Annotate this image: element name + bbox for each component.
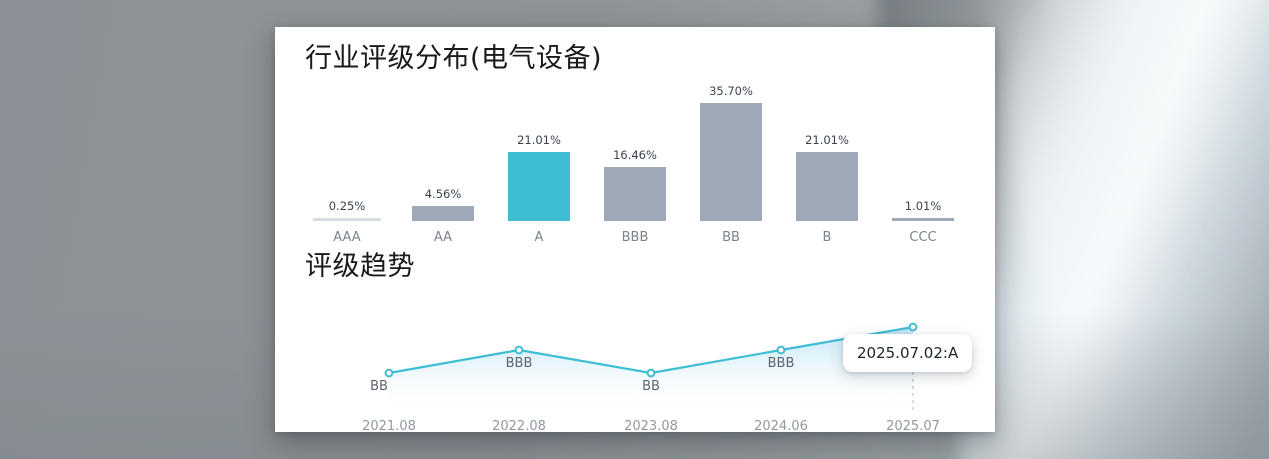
trend-x-label-2024.06: 2024.06 [754, 419, 808, 434]
bar-category-label-a: A [491, 230, 587, 245]
trend-x-label-2025.07: 2025.07 [886, 419, 940, 434]
trend-point-label-2024.06: BBB [768, 356, 795, 371]
bar-value-label-bb: 35.70% [683, 84, 779, 98]
bar-column-aaa[interactable]: 0.25%AAA [299, 97, 395, 247]
bar-category-label-aaa: AAA [299, 230, 395, 245]
trend-point-marker-2023.08[interactable] [648, 370, 655, 377]
trend-tooltip[interactable]: 2025.07.02:A [843, 334, 972, 372]
bar-value-label-b: 21.01% [779, 133, 875, 147]
bar-category-label-aa: AA [395, 230, 491, 245]
bar-column-aa[interactable]: 4.56%AA [395, 97, 491, 247]
rating-distribution-bar-chart: 0.25%AAA4.56%AA21.01%A16.46%BBB35.70%BB2… [299, 97, 971, 247]
screenshot-stage: 行业评级分布(电气设备) 0.25%AAA4.56%AA21.01%A16.46… [0, 0, 1269, 459]
bar-rect-aaa[interactable] [313, 218, 381, 221]
bar-rect-aa[interactable] [412, 206, 474, 221]
bar-column-a[interactable]: 21.01%A [491, 97, 587, 247]
bar-category-label-ccc: CCC [875, 230, 971, 245]
rating-trend-line-chart: BBBBBBBBBB 2021.082022.082023.082024.062… [299, 289, 971, 432]
bar-category-label-b: B [779, 230, 875, 245]
bar-rect-bbb[interactable] [604, 167, 666, 221]
bar-rect-b[interactable] [796, 152, 858, 221]
trend-point-label-2021.08: BB [370, 379, 388, 394]
trend-point-label-2022.08: BBB [506, 356, 533, 371]
bar-value-label-aaa: 0.25% [299, 199, 395, 213]
trend-x-label-2023.08: 2023.08 [624, 419, 678, 434]
bar-value-label-aa: 4.56% [395, 187, 491, 201]
chart-card: 行业评级分布(电气设备) 0.25%AAA4.56%AA21.01%A16.46… [275, 27, 995, 432]
bar-column-bb[interactable]: 35.70%BB [683, 97, 779, 247]
trend-chart-title: 评级趋势 [305, 253, 415, 280]
bar-value-label-a: 21.01% [491, 133, 587, 147]
bar-rect-ccc[interactable] [892, 218, 954, 221]
trend-point-marker-2021.08[interactable] [386, 370, 393, 377]
bar-rect-bb[interactable] [700, 103, 762, 221]
bar-column-b[interactable]: 21.01%B [779, 97, 875, 247]
trend-x-label-2022.08: 2022.08 [492, 419, 546, 434]
trend-point-marker-2022.08[interactable] [516, 347, 523, 354]
bar-chart-title: 行业评级分布(电气设备) [305, 45, 602, 72]
bar-value-label-ccc: 1.01% [875, 199, 971, 213]
trend-point-marker-2024.06[interactable] [778, 347, 785, 354]
trend-x-label-2021.08: 2021.08 [362, 419, 416, 434]
bar-rect-a[interactable] [508, 152, 570, 221]
bar-value-label-bbb: 16.46% [587, 148, 683, 162]
bar-category-label-bb: BB [683, 230, 779, 245]
trend-point-label-2023.08: BB [642, 379, 660, 394]
bar-column-ccc[interactable]: 1.01%CCC [875, 97, 971, 247]
bar-column-bbb[interactable]: 16.46%BBB [587, 97, 683, 247]
bar-category-label-bbb: BBB [587, 230, 683, 245]
trend-point-marker-2025.07[interactable] [910, 324, 917, 331]
